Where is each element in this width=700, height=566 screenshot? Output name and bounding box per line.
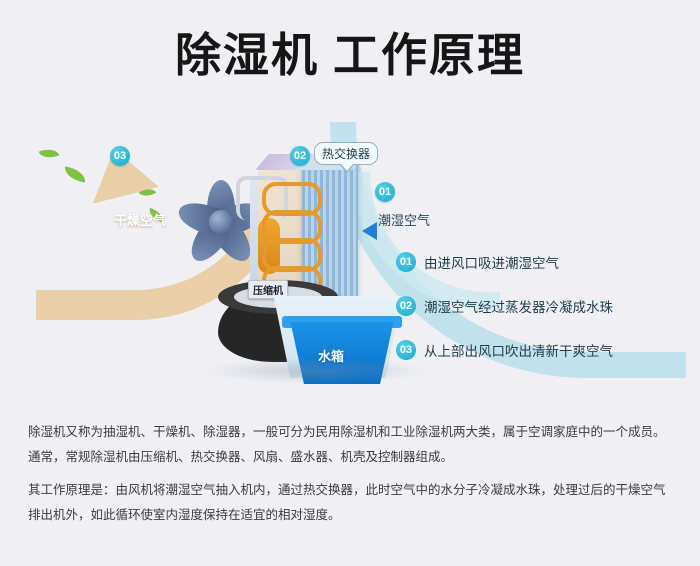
legend-badge-01: 01: [396, 252, 416, 272]
list-item: 01 由进风口吸进潮湿空气: [396, 252, 686, 272]
dry-air-label: 干燥空气: [114, 210, 166, 229]
diagram-badge-01: 01: [375, 182, 395, 202]
title-part-1: 除湿机: [175, 29, 319, 81]
diagram-badge-02: 02: [290, 146, 310, 166]
page-title: 除湿机工作原理: [0, 32, 700, 78]
description-paragraph-2: 其工作原理是：由风机将潮湿空气抽入机内，通过热交换器，此时空气中的水分子冷凝成水…: [28, 478, 676, 528]
infographic-page: 除湿机工作原理: [0, 0, 700, 566]
diagram-badge-03: 03: [110, 146, 130, 166]
list-item: 03 从上部出风口吹出清新干爽空气: [396, 340, 686, 360]
paragraph-1-line-1: 除湿机又称为抽湿机、干燥机、除湿器，一般可分为民用除湿机和工业除湿机两大类，属于…: [28, 420, 676, 445]
airflow-arrow-in-icon: [362, 222, 377, 240]
legend-badge-03: 03: [396, 340, 416, 360]
legend-list: 01 由进风口吸进潮湿空气 02 潮湿空气经过蒸发器冷凝成水珠 03 从上部出风…: [396, 252, 686, 384]
legend-badge-02: 02: [396, 296, 416, 316]
heat-exchanger-callout: 热交换器: [314, 142, 378, 165]
paragraph-2-line-1: 其工作原理是：由风机将潮湿空气抽入机内，通过热交换器，此时空气中的水分子冷凝成水…: [28, 478, 676, 503]
legend-text-02: 潮湿空气经过蒸发器冷凝成水珠: [424, 296, 613, 316]
humid-air-label: 潮湿空气: [378, 210, 430, 229]
list-item: 02 潮湿空气经过蒸发器冷凝成水珠: [396, 296, 686, 316]
description-paragraph-1: 除湿机又称为抽湿机、干燥机、除湿器，一般可分为民用除湿机和工业除湿机两大类，属于…: [28, 420, 676, 470]
title-part-2: 工作原理: [333, 29, 525, 81]
legend-text-03: 从上部出风口吹出清新干爽空气: [424, 340, 613, 360]
paragraph-1-line-2: 通常，常规除湿机由压缩机、热交换器、风扇、盛水器、机壳及控制器组成。: [28, 445, 676, 470]
legend-text-01: 由进风口吸进潮湿空气: [424, 252, 559, 272]
paragraph-2-line-2: 排出机外，如此循环使室内湿度保持在适宜的相对湿度。: [28, 503, 676, 528]
fan-hub: [209, 210, 233, 234]
